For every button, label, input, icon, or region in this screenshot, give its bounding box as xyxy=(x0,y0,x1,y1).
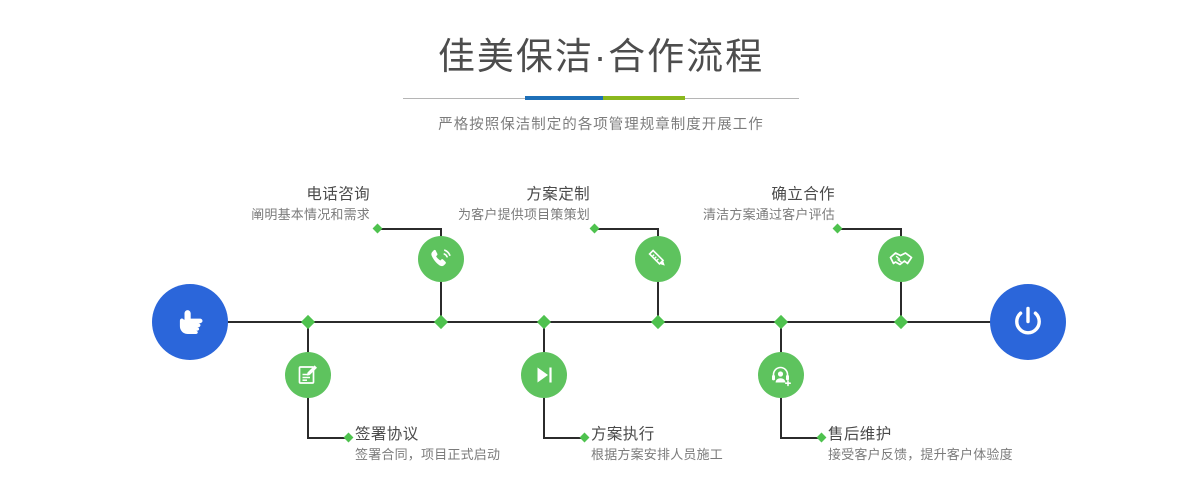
step-6-desc: 接受客户反馈，提升客户体验度 xyxy=(828,445,1108,464)
flowchart-page: 佳美保洁·合作流程 严格按照保洁制定的各项管理规章制度开展工作 xyxy=(0,0,1202,502)
step-4-title: 方案执行 xyxy=(591,425,841,445)
step-1-axis-marker xyxy=(434,315,448,329)
step-3-desc: 为客户提供项目策策划 xyxy=(350,205,590,224)
step-2-node-icon-badge[interactable] xyxy=(285,352,331,398)
step-3-node-icon-badge[interactable] xyxy=(635,236,681,282)
customer-support-icon xyxy=(768,362,794,388)
step-2-axis-marker xyxy=(301,315,315,329)
step-5-axis-marker xyxy=(894,315,908,329)
step-3-label-marker xyxy=(590,224,600,234)
document-edit-icon xyxy=(295,362,321,388)
step-6-node-icon-badge[interactable] xyxy=(758,352,804,398)
step-4-elbow xyxy=(543,437,583,439)
handshake-icon xyxy=(887,245,915,273)
step-3-label: 方案定制 为客户提供项目策策划 xyxy=(350,185,590,224)
step-3-axis-marker xyxy=(651,315,665,329)
title-divider xyxy=(403,92,799,106)
page-header: 佳美保洁·合作流程 严格按照保洁制定的各项管理规章制度开展工作 xyxy=(0,34,1202,134)
step-6-axis-marker xyxy=(774,315,788,329)
pencil-ruler-icon xyxy=(645,246,671,272)
timeline-start-badge xyxy=(152,284,228,360)
step-2-label: 签署协议 签署合同，项目正式启动 xyxy=(355,425,605,464)
step-1-title: 电话咨询 xyxy=(130,185,370,205)
divider-segment-blue xyxy=(525,96,603,100)
step-6-title: 售后维护 xyxy=(828,425,1108,445)
play-skip-icon xyxy=(531,362,557,388)
pointing-hand-icon xyxy=(170,302,210,342)
step-5-node-icon-badge[interactable] xyxy=(878,236,924,282)
step-2-elbow xyxy=(307,437,347,439)
step-6-label: 售后维护 接受客户反馈，提升客户体验度 xyxy=(828,425,1108,464)
step-2-desc: 签署合同，项目正式启动 xyxy=(355,445,605,464)
process-timeline: 电话咨询 阐明基本情况和需求 xyxy=(0,160,1202,502)
step-5-label-marker xyxy=(833,224,843,234)
step-3-title: 方案定制 xyxy=(350,185,590,205)
divider-segment-green xyxy=(603,96,685,100)
phone-call-icon xyxy=(428,246,454,272)
step-5-desc: 清洁方案通过客户评估 xyxy=(595,205,835,224)
power-icon xyxy=(1007,301,1049,343)
step-3-elbow xyxy=(595,228,658,230)
timeline-end-badge xyxy=(990,284,1066,360)
step-5-label: 确立合作 清洁方案通过客户评估 xyxy=(595,185,835,224)
step-4-label: 方案执行 根据方案安排人员施工 xyxy=(591,425,841,464)
step-1-label: 电话咨询 阐明基本情况和需求 xyxy=(130,185,370,224)
step-2-label-marker xyxy=(344,433,354,443)
step-5-title: 确立合作 xyxy=(595,185,835,205)
step-1-label-marker xyxy=(373,224,383,234)
step-1-elbow xyxy=(378,228,441,230)
step-6-elbow xyxy=(780,437,820,439)
step-5-elbow xyxy=(838,228,901,230)
step-4-axis-marker xyxy=(537,315,551,329)
step-1-node-icon-badge[interactable] xyxy=(418,236,464,282)
page-subtitle: 严格按照保洁制定的各项管理规章制度开展工作 xyxy=(0,113,1202,134)
step-4-node-icon-badge[interactable] xyxy=(521,352,567,398)
step-4-desc: 根据方案安排人员施工 xyxy=(591,445,841,464)
step-1-desc: 阐明基本情况和需求 xyxy=(130,205,370,224)
step-2-title: 签署协议 xyxy=(355,425,605,445)
page-title: 佳美保洁·合作流程 xyxy=(0,34,1202,80)
